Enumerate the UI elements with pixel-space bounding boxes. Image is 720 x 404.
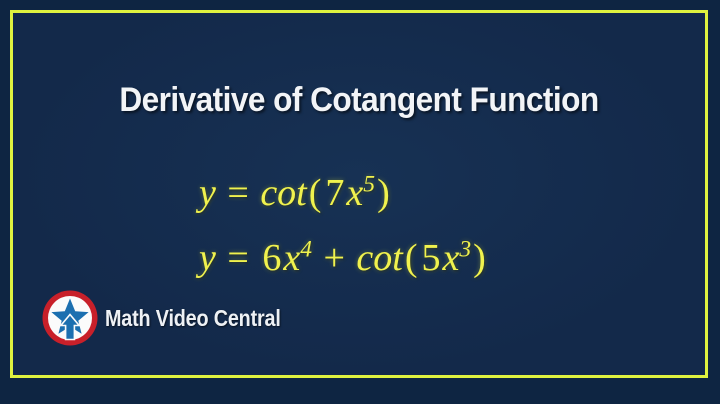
brand-watermark: Math Video Central [41, 289, 309, 347]
brand-name-label: Math Video Central [105, 305, 281, 332]
page-title: Derivative of Cotangent Function [37, 81, 681, 120]
equation-2-term2-coefficient: 5 [420, 237, 443, 279]
equation-1-open-paren: ( [307, 172, 324, 214]
equation-1-equals: = [225, 172, 250, 214]
video-slide: Derivative of Cotangent Function y = cot… [0, 0, 720, 404]
equation-1-coefficient: 7 [323, 172, 346, 214]
equation-2-open-paren: ( [403, 237, 420, 279]
equation-1-variable: x [346, 172, 363, 214]
equation-1-exponent: 5 [363, 171, 375, 197]
equation-2-term2-variable: x [443, 237, 460, 279]
equation-1: y = cot(7x5) [199, 161, 629, 226]
equation-2-term1-coefficient: 6 [260, 237, 283, 279]
equation-2-function: cot [356, 237, 402, 279]
equation-2: y = 6x4 + cot(5x3) [199, 226, 629, 291]
equation-2-lhs: y [199, 237, 216, 279]
star-arrow-badge-icon [41, 289, 99, 347]
equation-1-function: cot [260, 172, 306, 214]
equation-1-close-paren: ) [375, 172, 392, 214]
slide-inner-panel: Derivative of Cotangent Function y = cot… [10, 10, 708, 378]
equation-1-lhs: y [199, 172, 216, 214]
equation-2-term2-exponent: 3 [459, 237, 471, 263]
equation-2-term1-exponent: 4 [300, 237, 312, 263]
equation-2-plus: + [321, 237, 346, 279]
equation-2-term1-variable: x [283, 237, 300, 279]
equation-list: y = cot(7x5) y = 6x4 + cot(5x3) [199, 161, 629, 292]
equation-2-equals: = [225, 237, 250, 279]
equation-2-close-paren: ) [471, 237, 488, 279]
